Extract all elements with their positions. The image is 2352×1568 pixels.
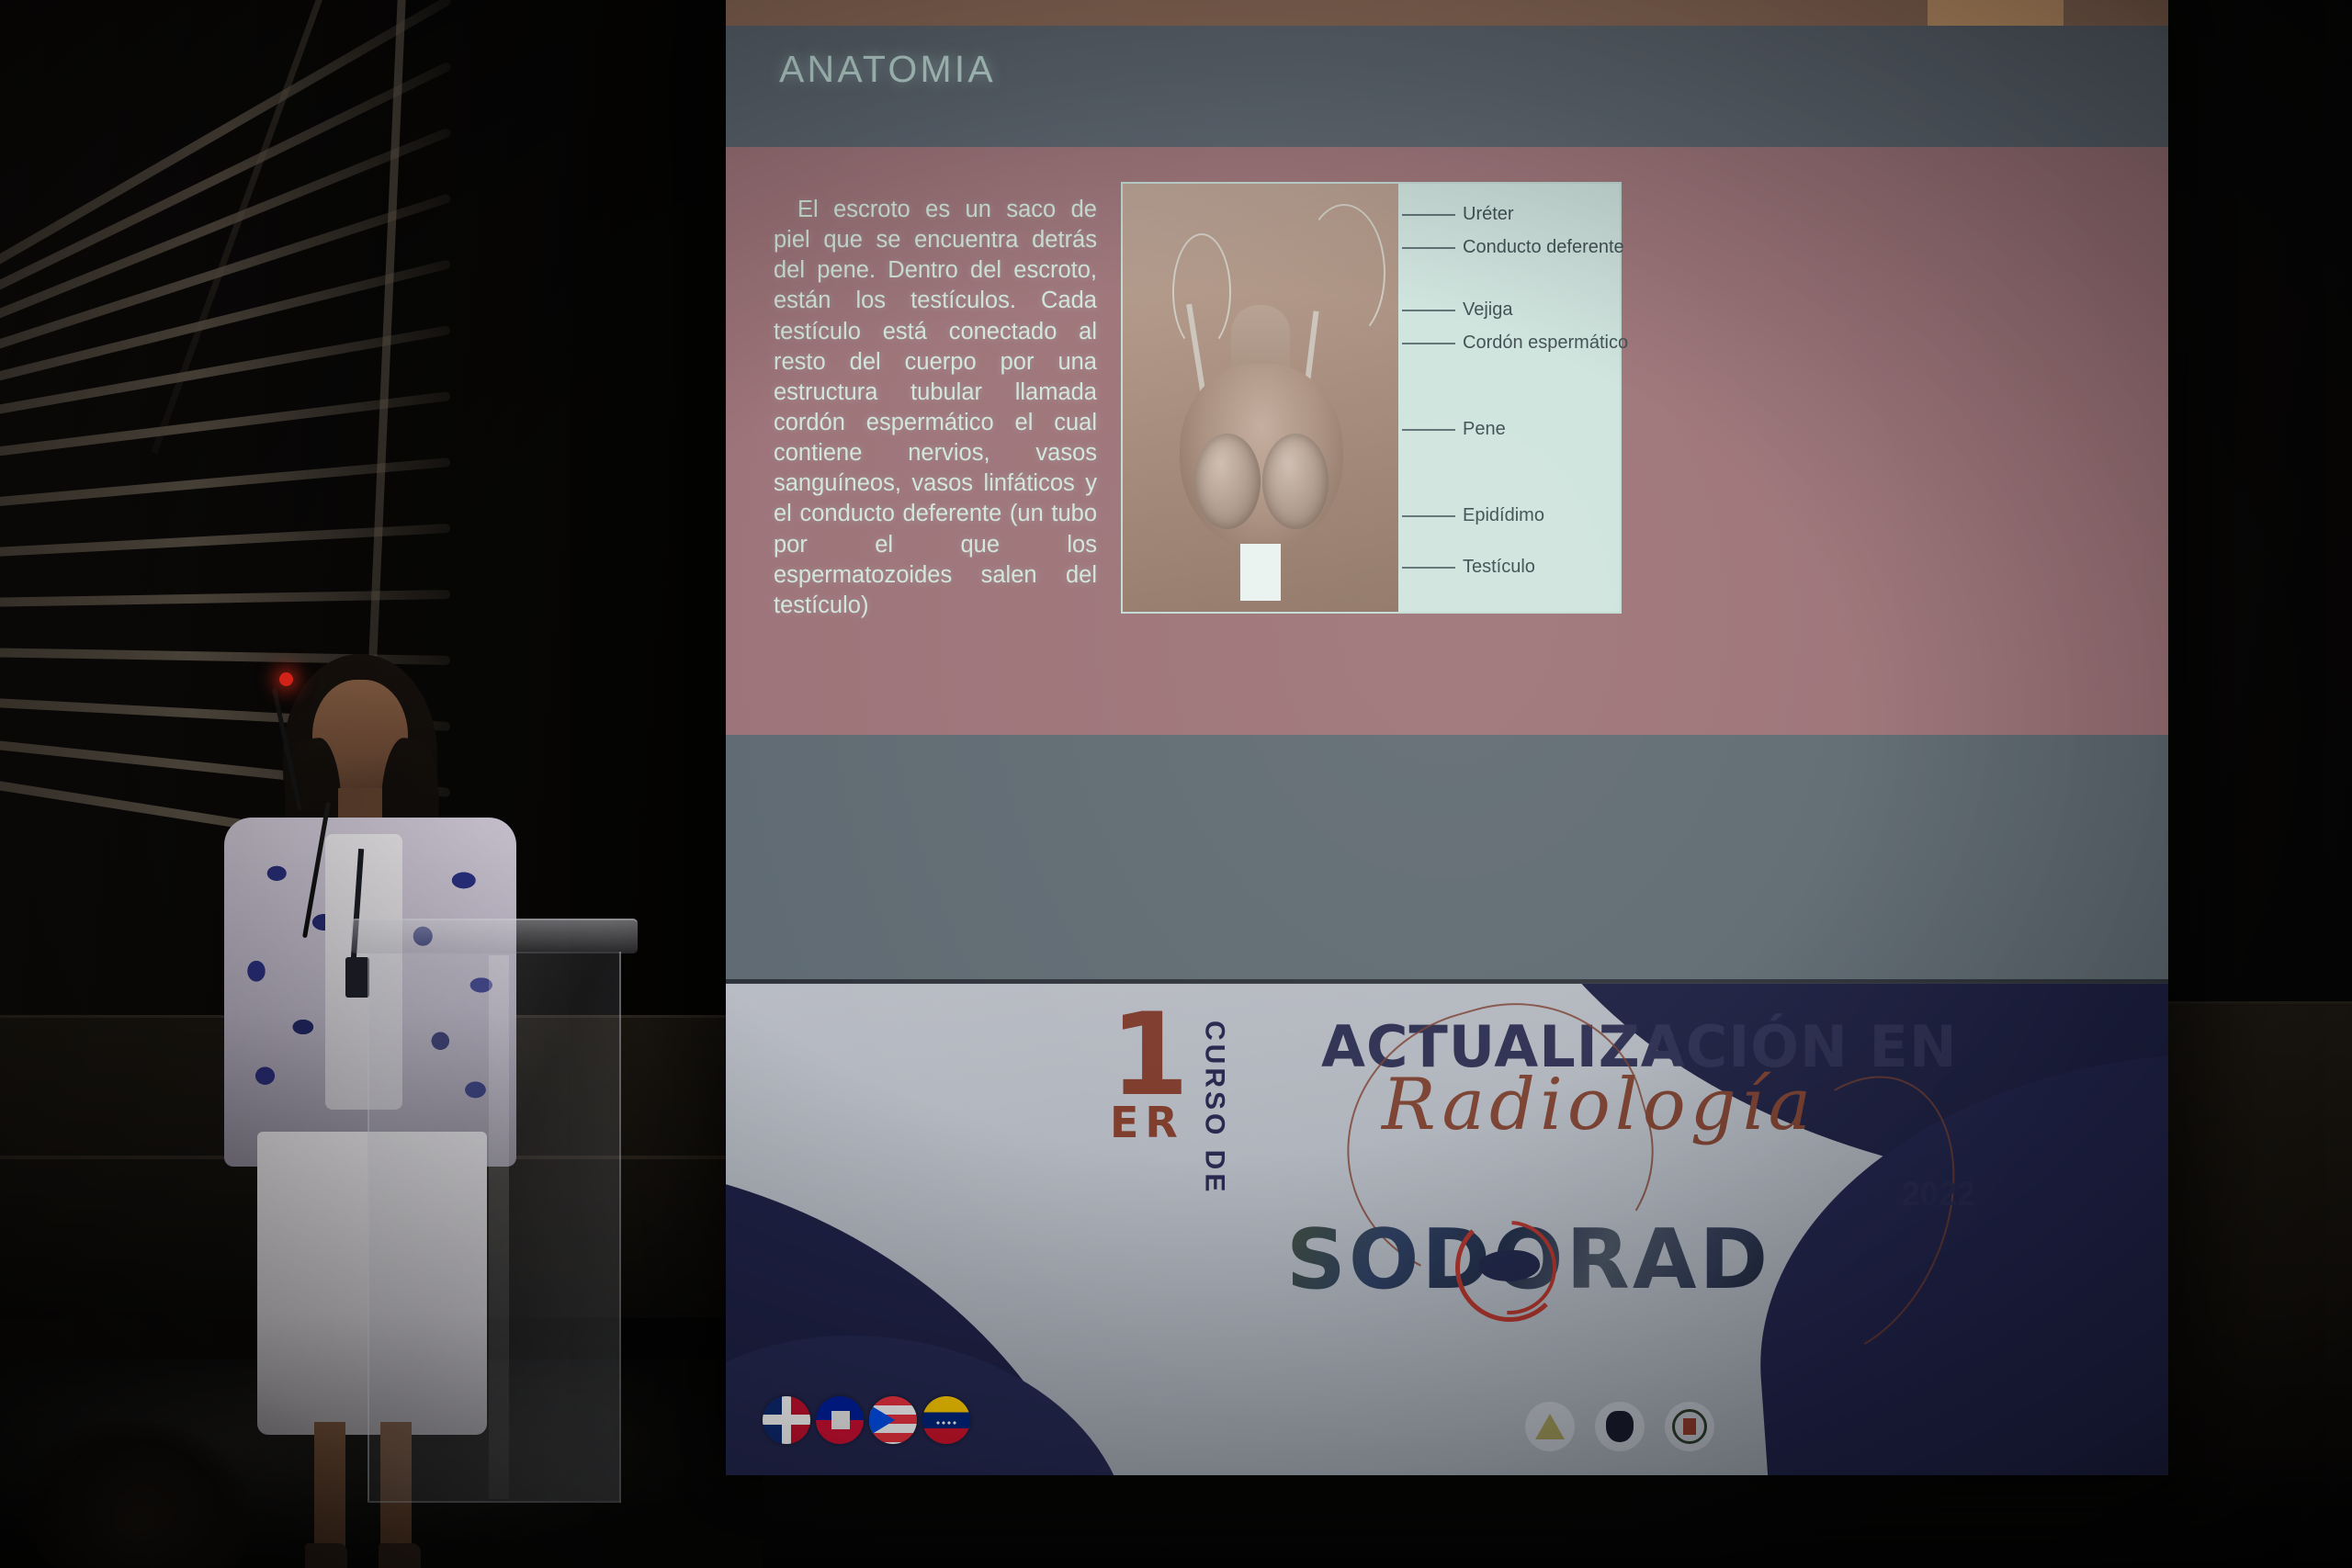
ordinal-lockup: 1 ER CURSO DE: [1110, 1008, 1261, 1195]
speaker-leg-left: [314, 1422, 345, 1560]
podium-highlight: [489, 955, 509, 1499]
anatomy-label-vejiga: Vejiga: [1463, 299, 1513, 321]
conference-hall-scene: ANATOMIA El escroto es un saco de piel q…: [0, 0, 2352, 1568]
speaker-shoe-left: [305, 1543, 347, 1568]
podium-top-surface: [351, 919, 638, 953]
event-branding-panel: 1 ER CURSO DE ACTUALIZACIÓN EN Radiologí…: [726, 984, 2168, 1475]
anatomy-illustration: [1123, 184, 1398, 612]
atom-logo-icon: [1455, 1213, 1564, 1322]
ring-emblem-icon: [1665, 1402, 1714, 1451]
presentation-slide: ANATOMIA El escroto es un saco de piel q…: [726, 0, 2168, 1475]
anatomy-label-testiculo: Testículo: [1463, 557, 1535, 578]
event-year: 2022: [1902, 1175, 1975, 1213]
testis-right-shape: [1262, 434, 1329, 529]
flag-puerto-rico-icon: [869, 1396, 917, 1444]
projection-screen: ANATOMIA El escroto es un saco de piel q…: [726, 0, 2168, 1475]
testis-left-shape: [1194, 434, 1261, 529]
sponsor-emblem-row: [1525, 1402, 1714, 1451]
anatomy-label-pene: Pene: [1463, 419, 1506, 440]
slide-title: ANATOMIA: [779, 48, 996, 91]
anatomy-figure: Uréter Conducto deferente Vejiga Cordón …: [1121, 182, 1622, 614]
event-title-block: ACTUALIZACIÓN EN Radiología 2022: [1321, 1013, 1983, 1146]
podium: [351, 919, 638, 1562]
flag-venezuela-icon: [922, 1396, 970, 1444]
curso-de-label: CURSO DE: [1198, 1021, 1229, 1195]
figure-bottom-tab: [1240, 544, 1281, 601]
flag-dominican-republic-icon: [763, 1396, 810, 1444]
flag-row: [763, 1396, 970, 1444]
anatomy-label-cordon-espermatico: Cordón espermático: [1463, 333, 1628, 354]
anatomy-label-column: Uréter Conducto deferente Vejiga Cordón …: [1398, 184, 1620, 612]
duct-loop-left: [1172, 233, 1231, 351]
slide-lower-band: [726, 735, 2168, 983]
anatomy-label-conducto-deferente: Conducto deferente: [1463, 237, 1624, 258]
anatomy-label-epididimo: Epidídimo: [1463, 505, 1544, 526]
anatomy-label-ureter: Uréter: [1463, 204, 1514, 225]
microphone-led-icon: [279, 672, 293, 686]
triangle-emblem-icon: [1525, 1402, 1575, 1451]
ordinal-number: 1: [1110, 1008, 1189, 1103]
ordinal-suffix: ER: [1110, 1098, 1189, 1147]
flag-haiti-icon: [816, 1396, 864, 1444]
wainscot-right: [2166, 1001, 2352, 1516]
slide-body-text: El escroto es un saco de piel que se enc…: [774, 195, 1097, 621]
shield-emblem-icon: [1595, 1402, 1645, 1451]
